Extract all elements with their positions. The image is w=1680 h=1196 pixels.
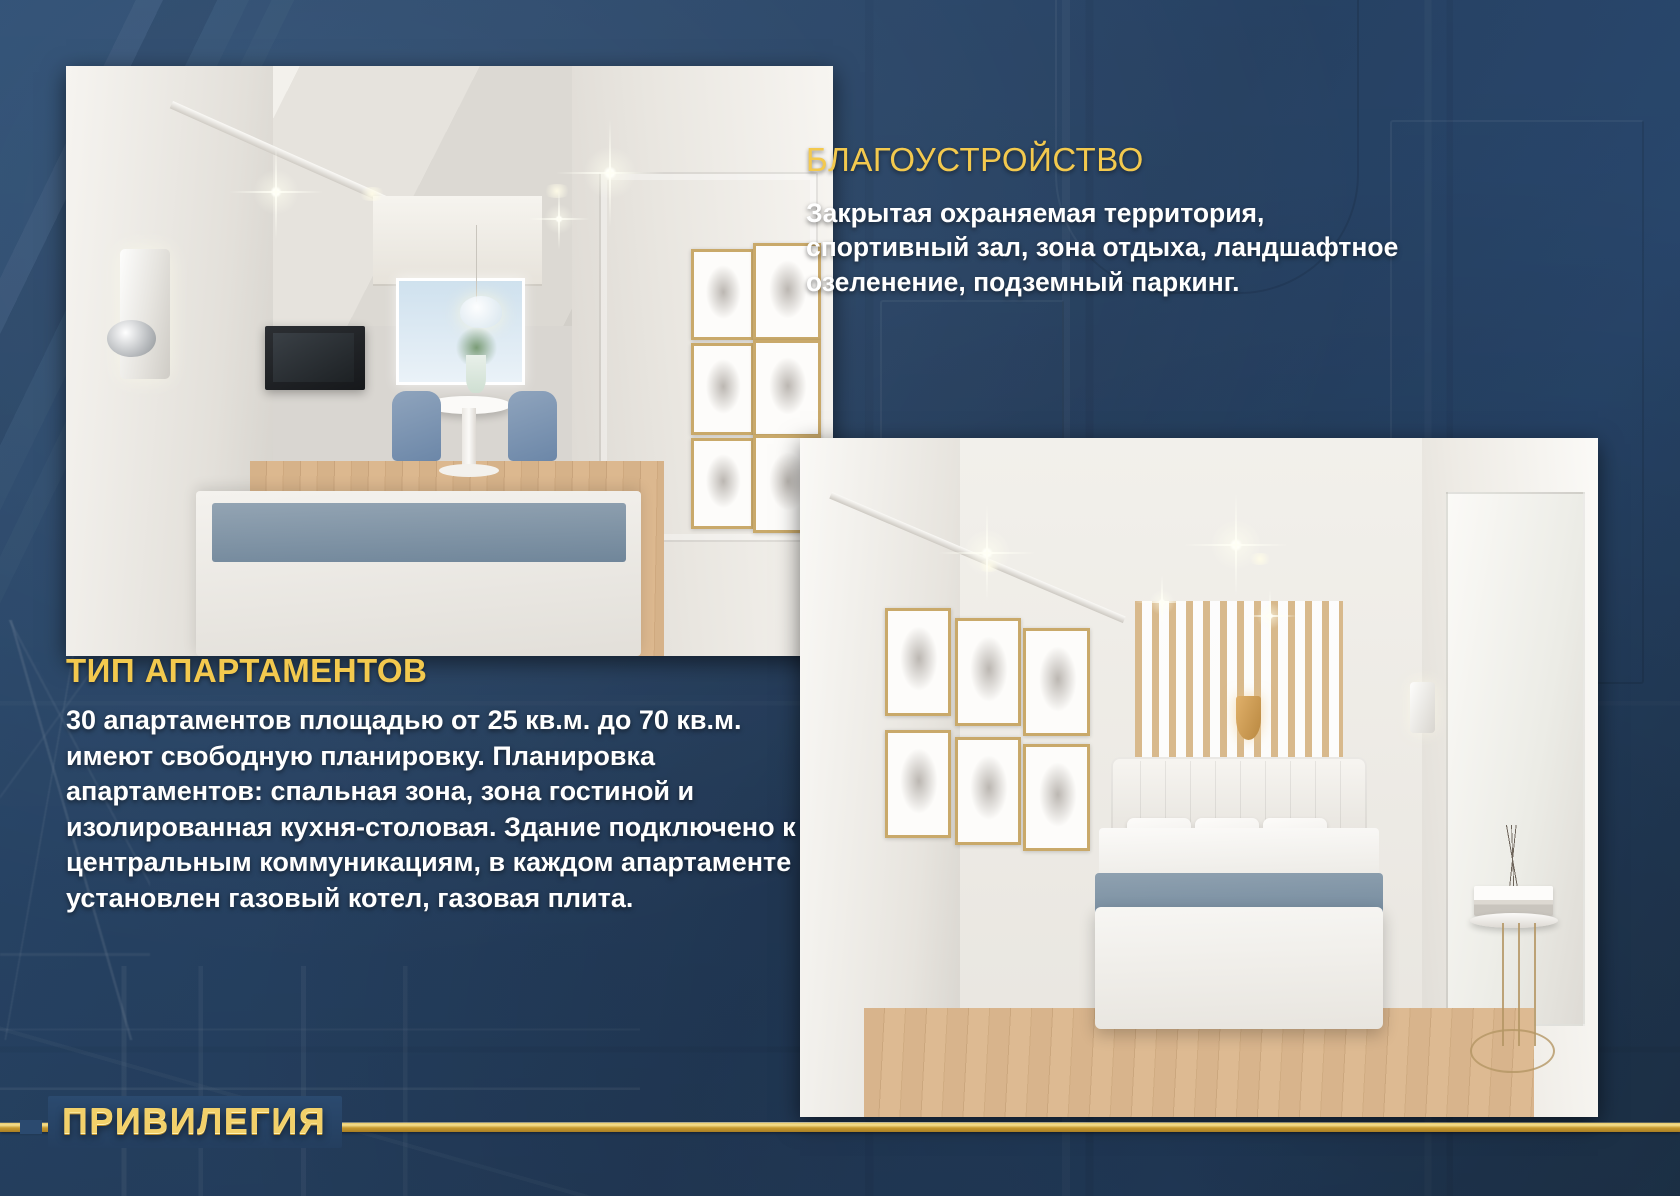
window-roller-blind	[373, 196, 542, 287]
wall-art-frame	[691, 438, 754, 530]
wall-sconce	[1410, 682, 1436, 733]
body-amenities: Закрытая охраняемая территория, спортивн…	[806, 196, 1431, 299]
ceiling-spotlight	[542, 184, 572, 198]
heading-amenities: БЛАГОУСТРОЙСТВО	[806, 141, 1144, 179]
dining-chair-left	[392, 391, 441, 462]
decorative-sticks	[1494, 825, 1534, 893]
bedroom-scene	[800, 438, 1598, 1117]
side-table-legs	[1488, 923, 1541, 1045]
bed-base	[1095, 907, 1382, 1029]
presentation-slide: БЛАГОУСТРОЙСТВО Закрытая охраняемая терр…	[0, 0, 1680, 1196]
wall-art-frame	[691, 249, 754, 341]
brass-lamp	[1236, 696, 1262, 740]
body-apartment-type: 30 апартаментов площадью от 25 кв.м. до …	[66, 703, 806, 916]
wall-sconce	[120, 249, 170, 379]
bed-sheet	[1099, 828, 1378, 879]
wooden-slat-partition	[1135, 601, 1342, 778]
bed-throw-blanket	[212, 503, 626, 562]
wall-art-frame	[955, 618, 1022, 726]
heading-apartment-type: ТИП АПАРТАМЕНТОВ	[66, 652, 427, 690]
wall-art-frame	[955, 737, 1022, 845]
wall-art-frame	[885, 730, 952, 838]
stacked-books	[1474, 886, 1554, 916]
dining-table-leg	[462, 408, 476, 467]
dining-chair-right	[508, 391, 557, 462]
photo-corridor-interior	[66, 66, 833, 656]
tv-screen	[273, 333, 354, 381]
vase	[466, 355, 486, 393]
wall-art-frame	[691, 343, 754, 435]
photo-bedroom-interior	[800, 438, 1598, 1117]
corridor-scene	[66, 66, 833, 656]
footer-brand-logo: ПРИВИЛЕГИЯ	[48, 1096, 342, 1148]
pendant-cord	[476, 225, 477, 302]
wall-art-frame	[1023, 628, 1090, 736]
wall-art-frame	[885, 608, 952, 716]
footer-brand-spacer	[20, 1120, 42, 1134]
side-table-ring	[1470, 1029, 1555, 1074]
wall-art-frame	[753, 340, 820, 437]
wall-art-frame	[1023, 744, 1090, 852]
ceiling-spotlight	[976, 560, 1002, 572]
